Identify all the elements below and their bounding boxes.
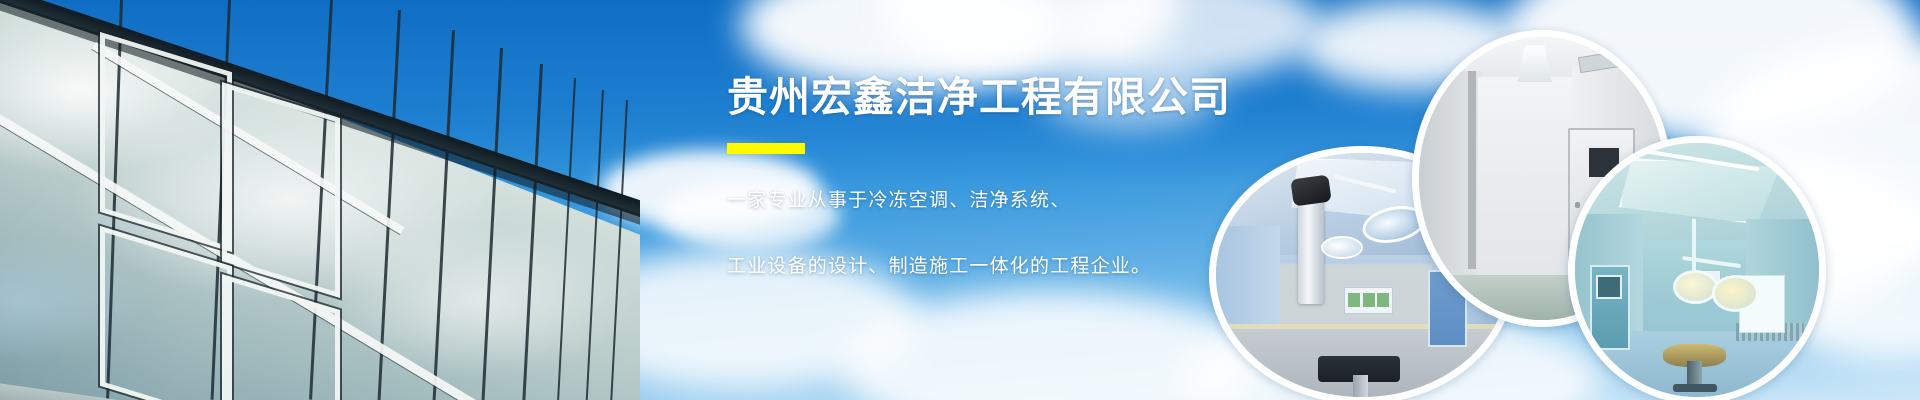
yellow-accent-bar: [727, 143, 805, 154]
hero-subtitle-line-2: 工业设备的设计、制造施工一体化的工程企业。: [727, 248, 1287, 286]
company-hero-banner: 贵州宏鑫洁净工程有限公司 一家专业从事于冷冻空调、洁净系统、 工业设备的设计、制…: [0, 0, 1920, 400]
surgical-light: [1673, 270, 1718, 304]
photo-circle-operating-theatre-laminar: [1568, 136, 1826, 400]
hero-subtitle-line-1: 一家专业从事于冷冻空调、洁净系统、: [727, 182, 1287, 220]
wall-center: [1478, 77, 1576, 281]
operating-table-base: [1353, 375, 1368, 397]
control-panel: [1344, 287, 1393, 313]
surgical-light-secondary: [1712, 275, 1759, 311]
wall-corner-edge: [1468, 71, 1475, 269]
company-title: 贵州宏鑫洁净工程有限公司: [727, 74, 1287, 121]
glass-building-photo: [0, 0, 640, 400]
medical-pendant-column: [1298, 192, 1324, 304]
door-view-window: [1596, 275, 1622, 299]
wall-left: [1216, 226, 1280, 338]
operating-theatre-image: [1575, 143, 1819, 397]
surgical-light-stand: [1692, 219, 1696, 270]
pendant-head: [1290, 175, 1331, 207]
window-panel: [222, 82, 340, 298]
operating-table-base: [1673, 384, 1717, 392]
hero-text-block: 贵州宏鑫洁净工程有限公司 一家专业从事于冷冻空调、洁净系统、 工业设备的设计、制…: [727, 74, 1287, 286]
